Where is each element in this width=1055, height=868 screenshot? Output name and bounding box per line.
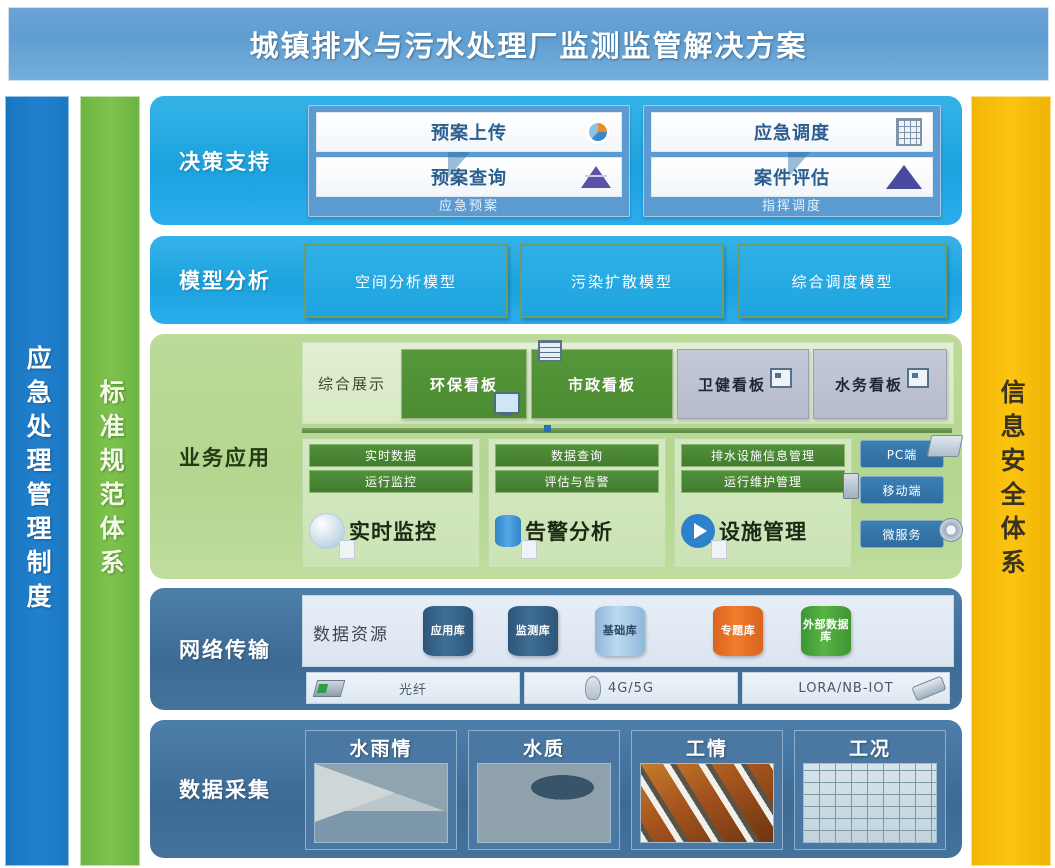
business-title-facility-management-label: 设施管理 [719, 516, 807, 546]
network-link-row: 光纤 4G/5G LORA/NB-IOT [302, 672, 952, 702]
business-column-alarm: 数据查询 评估与告警 告警分析 [488, 438, 666, 568]
layer-network-transport: 网络传输 数据资源 应用库 监测库 基础库 专题库 外部数据库 光纤 [150, 588, 962, 710]
layer-business-application-label: 业务应用 [150, 334, 300, 579]
business-tag-operation-maintenance-label: 运行维护管理 [724, 473, 802, 490]
model-item-spatial[interactable]: 空间分析模型 [304, 244, 508, 318]
business-title-realtime-monitoring-label: 实时监控 [349, 516, 437, 546]
model-item-integrated-dispatch[interactable]: 综合调度模型 [738, 244, 947, 318]
business-title-alarm-analysis-label: 告警分析 [525, 516, 613, 546]
play-icon [681, 514, 715, 548]
data-card-water-rain[interactable]: 水雨情 [305, 730, 457, 850]
data-card-project-status[interactable]: 工情 [631, 730, 783, 850]
business-tag-assessment-alarm[interactable]: 评估与告警 [495, 470, 659, 493]
page-icon [711, 540, 727, 559]
data-card-working-condition-title: 工况 [795, 733, 945, 761]
business-title-facility-management[interactable]: 设施管理 [681, 501, 845, 561]
phone-icon [843, 473, 859, 499]
data-resource-label: 数据资源 [313, 620, 389, 645]
decision-group-command-dispatch-caption: 指挥调度 [644, 195, 940, 214]
separator-marker [544, 425, 551, 432]
decision-item-emergency-dispatch-label: 应急调度 [754, 119, 830, 145]
database-external[interactable]: 外部数据库 [801, 606, 851, 656]
scada-diagram-photo [803, 763, 937, 843]
terminal-microservice[interactable]: 微服务 [860, 520, 944, 548]
decision-item-plan-upload[interactable]: 预案上传 [316, 112, 622, 152]
business-title-realtime-monitoring[interactable]: 实时监控 [309, 501, 473, 561]
network-link-fiber[interactable]: 光纤 [306, 672, 520, 704]
terminal-pc[interactable]: PC端 [860, 440, 944, 468]
database-application[interactable]: 应用库 [423, 606, 473, 656]
pillar-emergency-management-label: 应急处理管理制度 [24, 345, 50, 617]
database-application-label: 应用库 [431, 625, 466, 637]
business-tag-drainage-facility-info[interactable]: 排水设施信息管理 [681, 444, 845, 467]
data-card-water-quality[interactable]: 水质 [468, 730, 620, 850]
model-item-pollution-diffusion[interactable]: 污染扩散模型 [520, 244, 724, 318]
network-link-lpwan-label: LORA/NB-IOT [798, 681, 893, 696]
business-tag-operation-monitoring-label: 运行监控 [365, 473, 417, 490]
business-title-alarm-analysis[interactable]: 告警分析 [495, 501, 659, 561]
business-tag-data-query[interactable]: 数据查询 [495, 444, 659, 467]
page-icon [339, 540, 355, 559]
page-title-bar: 城镇排水与污水处理厂监测监管解决方案 [8, 7, 1049, 81]
model-analysis-body: 空间分析模型 污染扩散模型 综合调度模型 [298, 236, 962, 324]
model-item-spatial-label: 空间分析模型 [355, 271, 457, 292]
data-resource-panel: 数据资源 应用库 监测库 基础库 专题库 外部数据库 [302, 595, 954, 667]
board-environment[interactable]: 环保看板 [401, 349, 527, 419]
database-thematic[interactable]: 专题库 [713, 606, 763, 656]
terminal-mobile[interactable]: 移动端 [860, 476, 944, 504]
model-item-pollution-diffusion-label: 污染扩散模型 [571, 271, 673, 292]
layer-business-application: 业务应用 综合展示 环保看板 市政看板 卫健看板 水务看板 [150, 334, 962, 579]
pyramid-3d-icon [886, 165, 922, 189]
board-environment-label: 环保看板 [430, 374, 498, 395]
sensor-icon [911, 675, 946, 701]
window-icon [538, 340, 562, 362]
monitor-icon [494, 392, 520, 414]
database-thematic-label: 专题库 [721, 625, 756, 637]
database-basic-label: 基础库 [603, 625, 638, 637]
decision-support-body: 预案上传 预案查询 应急预案 应急调度 案件评估 指挥调度 [298, 96, 962, 225]
business-tag-data-query-label: 数据查询 [551, 447, 603, 464]
pie-chart-icon [585, 119, 611, 145]
grid-table-icon [896, 118, 922, 146]
dashboard-panel: 综合展示 环保看板 市政看板 卫健看板 水务看板 [302, 342, 954, 424]
business-tag-operation-maintenance[interactable]: 运行维护管理 [681, 470, 845, 493]
microservice-icon [939, 518, 963, 542]
decision-item-plan-upload-label: 预案上传 [431, 119, 507, 145]
terminal-mobile-label: 移动端 [882, 482, 921, 499]
database-icon [495, 515, 521, 547]
model-item-integrated-dispatch-label: 综合调度模型 [791, 271, 893, 292]
decision-item-emergency-dispatch[interactable]: 应急调度 [651, 112, 933, 152]
layer-model-analysis: 模型分析 空间分析模型 污染扩散模型 综合调度模型 [150, 236, 962, 324]
network-link-cellular-label: 4G/5G [608, 681, 654, 696]
dashboard-panel-label-text: 综合展示 [318, 373, 386, 394]
decision-group-emergency-plan-caption: 应急预案 [309, 195, 629, 214]
pipeline-trench-photo [640, 763, 774, 843]
flow-icon [907, 368, 929, 388]
page-icon [521, 540, 537, 559]
data-card-project-status-label: 工情 [686, 734, 728, 761]
arrow-connector-2 [788, 152, 810, 178]
data-card-water-rain-title: 水雨情 [306, 733, 456, 761]
antenna-icon [585, 676, 601, 700]
laptop-icon [927, 435, 964, 457]
business-tag-realtime-data[interactable]: 实时数据 [309, 444, 473, 467]
arrow-connector-1 [448, 152, 470, 178]
fiber-icon [313, 680, 346, 697]
board-municipal[interactable]: 市政看板 [531, 349, 673, 419]
database-monitoring[interactable]: 监测库 [508, 606, 558, 656]
river-embankment-photo [314, 763, 448, 843]
database-external-label: 外部数据库 [801, 619, 851, 643]
business-tag-realtime-data-label: 实时数据 [365, 447, 417, 464]
database-basic[interactable]: 基础库 [595, 606, 645, 656]
network-link-cellular[interactable]: 4G/5G [524, 672, 738, 704]
network-link-lpwan[interactable]: LORA/NB-IOT [742, 672, 950, 704]
terminal-microservice-label: 微服务 [882, 526, 921, 543]
business-tag-operation-monitoring[interactable]: 运行监控 [309, 470, 473, 493]
terminal-pc-label: PC端 [887, 446, 918, 463]
layer-network-transport-label: 网络传输 [150, 588, 300, 710]
treatment-plant-photo [477, 763, 611, 843]
data-card-project-status-title: 工情 [632, 733, 782, 761]
dashboard-separator [302, 428, 952, 433]
network-link-fiber-label: 光纤 [399, 679, 427, 698]
flow-icon [770, 368, 792, 388]
layer-decision-support-label: 决策支持 [150, 96, 300, 225]
business-tag-assessment-alarm-label: 评估与告警 [544, 473, 609, 490]
data-card-water-quality-label: 水质 [523, 734, 565, 761]
architecture-stack: 决策支持 预案上传 预案查询 应急预案 应急调度 [150, 96, 962, 864]
layer-data-collection: 数据采集 水雨情 水质 工情 工况 [150, 720, 962, 858]
database-monitoring-label: 监测库 [516, 625, 551, 637]
pillar-information-security: 信息安全体系 [971, 96, 1051, 866]
board-water-affairs-label: 水务看板 [835, 374, 903, 395]
data-card-working-condition[interactable]: 工况 [794, 730, 946, 850]
business-column-facility: 排水设施信息管理 运行维护管理 设施管理 [674, 438, 852, 568]
business-tag-drainage-facility-info-label: 排水设施信息管理 [711, 447, 815, 464]
board-health-label: 卫健看板 [698, 374, 766, 395]
board-municipal-label: 市政看板 [568, 374, 636, 395]
board-water-affairs[interactable]: 水务看板 [813, 349, 947, 419]
page-title: 城镇排水与污水处理厂监测监管解决方案 [249, 23, 807, 65]
layer-data-collection-label: 数据采集 [150, 720, 300, 858]
pillar-information-security-label: 信息安全体系 [998, 379, 1024, 583]
dashboard-panel-label: 综合展示 [309, 349, 395, 417]
data-card-working-condition-label: 工况 [849, 734, 891, 761]
pillar-emergency-management: 应急处理管理制度 [5, 96, 69, 866]
pillar-standards-system-label: 标准规范体系 [97, 379, 123, 583]
layer-decision-support: 决策支持 预案上传 预案查询 应急预案 应急调度 [150, 96, 962, 225]
pyramid-icon [581, 166, 611, 188]
data-card-water-rain-label: 水雨情 [349, 734, 412, 761]
business-column-realtime: 实时数据 运行监控 实时监控 [302, 438, 480, 568]
layer-model-analysis-label: 模型分析 [150, 236, 300, 324]
pillar-standards-system: 标准规范体系 [80, 96, 140, 866]
data-card-water-quality-title: 水质 [469, 733, 619, 761]
board-health[interactable]: 卫健看板 [677, 349, 809, 419]
